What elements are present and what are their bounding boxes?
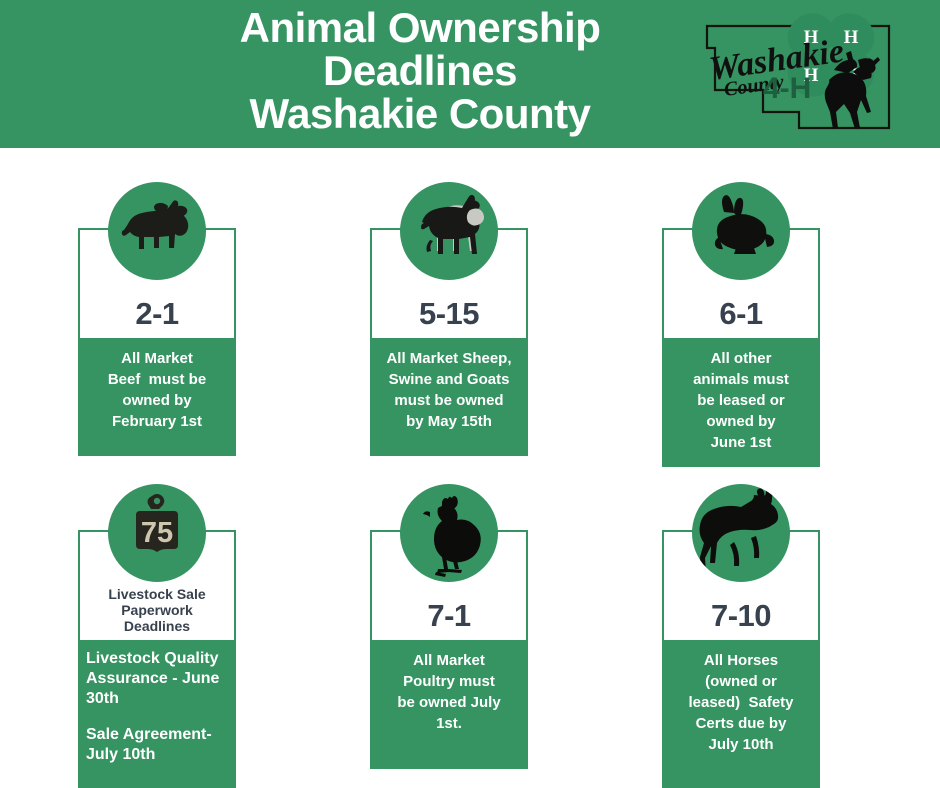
card-heading-line: Paperwork [80, 602, 234, 618]
card-description-line: Poultry must [376, 671, 522, 692]
card-description: All other animals must be leased or owne… [662, 338, 820, 467]
card-description-line: All other [668, 348, 814, 369]
card-description: All Horses (owned or leased) Safety Cert… [662, 640, 820, 788]
card-description-line: owned by [668, 411, 814, 432]
card-heading-line: Deadlines [80, 618, 234, 634]
deadline-card-market-beef: 2-1 All Market Beef must be owned by Feb… [78, 228, 236, 456]
sheep-goat-icon [400, 182, 498, 280]
svg-text:4-H: 4-H [763, 72, 811, 105]
card-description-line: Sale Agreement- [86, 725, 230, 745]
card-date-number: 7-1 [372, 599, 526, 632]
card-description-line: owned by [84, 390, 230, 411]
deadline-card-horses-safety-certs: 7-10 All Horses (owned or leased) Safety… [662, 530, 820, 788]
card-date-number: 5-15 [372, 297, 526, 330]
page-title-line-2: Deadlines [130, 49, 710, 92]
card-top-section: 7-10 [662, 530, 820, 640]
card-description-line: Livestock Quality [86, 649, 230, 669]
card-date-number: 2-1 [80, 297, 234, 330]
card-description-paragraph: Livestock Quality Assurance - June 30th [86, 649, 230, 709]
deadline-card-livestock-sale-paperwork: 75 Livestock Sale Paperwork Deadlines Li… [78, 530, 236, 788]
card-date-number: 7-10 [664, 599, 818, 632]
card-description-line: All Market [376, 650, 522, 671]
card-description-line: All Horses [668, 650, 814, 671]
card-heading-line: Livestock Sale [80, 586, 234, 602]
card-description-line: July 10th [86, 745, 230, 765]
card-description-line: July 10th [668, 734, 814, 755]
card-description-line: February 1st [84, 411, 230, 432]
card-description-line: be owned July [376, 692, 522, 713]
page-header: Animal Ownership Deadlines Washakie Coun… [0, 0, 940, 148]
card-description-line: 1st. [376, 713, 522, 734]
card-description-line: Assurance - June [86, 669, 230, 689]
svg-text:75: 75 [141, 517, 173, 549]
washakie-county-4h-logo: H H H H Washakie County 4-H [703, 8, 908, 140]
card-description: Livestock Quality Assurance - June 30th … [78, 640, 236, 788]
card-description-line: Beef must be [84, 369, 230, 390]
cow-icon [108, 182, 206, 280]
card-top-section: 75 Livestock Sale Paperwork Deadlines [78, 530, 236, 640]
card-top-section: 2-1 [78, 228, 236, 338]
ear-tag-75-icon: 75 [108, 484, 206, 582]
card-description-line: leased) Safety [668, 692, 814, 713]
horse-icon [692, 484, 790, 582]
card-description-line: (owned or [668, 671, 814, 692]
card-top-section: 7-1 [370, 530, 528, 640]
card-heading: Livestock Sale Paperwork Deadlines [80, 586, 234, 634]
rabbit-icon [692, 182, 790, 280]
card-description-line: June 1st [668, 432, 814, 453]
deadline-card-grid: 2-1 All Market Beef must be owned by Feb… [0, 148, 940, 788]
card-description-line: Certs due by [668, 713, 814, 734]
card-description-line: Swine and Goats [376, 369, 522, 390]
card-description: All Market Beef must be owned by Februar… [78, 338, 236, 456]
card-date-number: 6-1 [664, 297, 818, 330]
page-title-line-1: Animal Ownership [130, 6, 710, 49]
card-description-line: All Market Sheep, [376, 348, 522, 369]
card-description-line: by May 15th [376, 411, 522, 432]
card-description-line: must be owned [376, 390, 522, 411]
card-top-section: 6-1 [662, 228, 820, 338]
chicken-icon [400, 484, 498, 582]
card-description-paragraph: Sale Agreement- July 10th [86, 725, 230, 765]
card-description: All Market Poultry must be owned July 1s… [370, 640, 528, 769]
page-title: Animal Ownership Deadlines Washakie Coun… [130, 6, 710, 135]
svg-text:H: H [844, 27, 859, 48]
deadline-card-all-other-animals: 6-1 All other animals must be leased or … [662, 228, 820, 467]
card-description-line: animals must [668, 369, 814, 390]
card-description-line: be leased or [668, 390, 814, 411]
card-description: All Market Sheep, Swine and Goats must b… [370, 338, 528, 456]
card-description-line: All Market [84, 348, 230, 369]
deadline-card-market-poultry: 7-1 All Market Poultry must be owned Jul… [370, 530, 528, 769]
page-title-line-3: Washakie County [130, 92, 710, 135]
card-top-section: 5-15 [370, 228, 528, 338]
deadline-card-market-sheep-swine-goats: 5-15 All Market Sheep, Swine and Goats m… [370, 228, 528, 456]
card-description-line: 30th [86, 689, 230, 709]
